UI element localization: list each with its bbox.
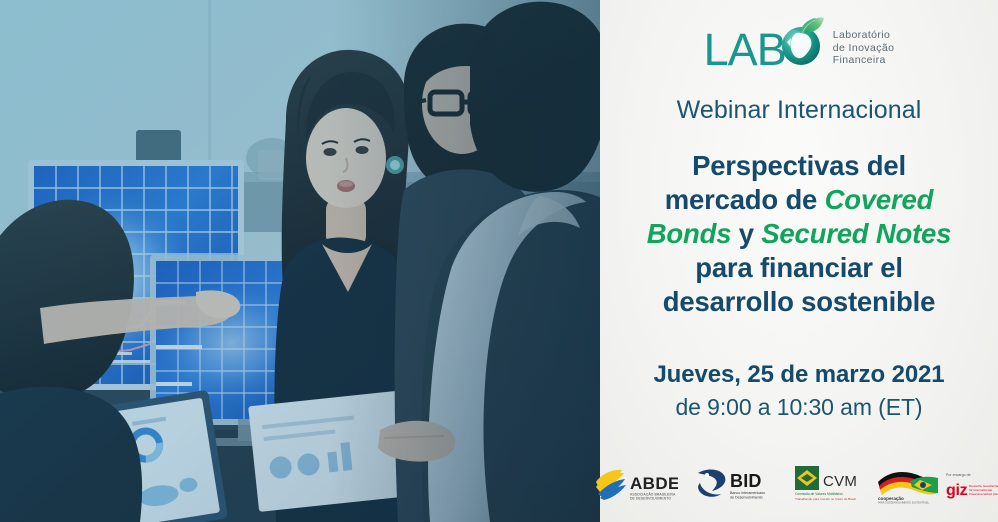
lab-logo: LAB [704, 14, 895, 80]
cooperacao-wordmark: cooperação [878, 496, 904, 501]
headline-line-4: para financiar el [619, 251, 979, 285]
headline-line-3: Bonds y Secured Notes [619, 217, 979, 251]
abde-sub-2: DE DESENVOLVIMENTO [630, 497, 671, 501]
headline-accent-bonds: Bonds [647, 218, 732, 249]
bid-logo-svg: BID Banco Interamericano de Desenvolvime… [692, 463, 780, 503]
headline-line-5: desarrollo sostenible [619, 285, 979, 319]
hero-photo [0, 0, 600, 522]
giz-prefix: Por encargo de [946, 473, 971, 477]
webinar-poster: LAB [0, 0, 998, 522]
giz-sub-3: Zusammenarbeit (GIZ) GmbH [969, 492, 998, 496]
sponsor-logo-abde: ABDE ASSOCIAÇÃO BRASILEIRA DE DESENVOLVI… [592, 463, 678, 503]
cvm-logo-svg: CVM Comissão de Valores Mobiliários Trab… [792, 461, 868, 505]
cvm-sub-2: Trabalhando para investir no futuro do B… [795, 497, 856, 501]
sponsor-logo-cooperacao-alema: cooperação PARA O DESENVOLVIMENTO SUSTEN… [876, 462, 940, 504]
event-date: Jueves, 25 de marzo 2021 [653, 361, 944, 389]
bid-sub-2: de Desenvolvimento [730, 496, 763, 500]
cvm-wordmark: CVM [823, 473, 857, 490]
headline-line-2: mercado de Covered [619, 183, 979, 217]
lab-tagline: Laboratório de Inovação Financeira [833, 29, 895, 66]
sponsor-logo-strip: ABDE ASSOCIAÇÃO BRASILEIRA DE DESENVOLVI… [600, 452, 998, 514]
lab-tagline-line1: Laboratório [833, 29, 895, 41]
info-panel: LAB [600, 0, 998, 522]
headline-line-1: Perspectivas del [619, 149, 979, 183]
globe-leaf-icon [778, 16, 826, 73]
eyebrow-text: Webinar Internacional [677, 96, 922, 125]
hero-photo-illustration [0, 0, 600, 522]
sponsor-logo-giz: Por encargo de giz Deutsche Gesellschaft… [944, 462, 998, 504]
headline-accent-secured-notes: Secured Notes [761, 218, 951, 249]
headline-accent-covered: Covered [825, 184, 934, 215]
lab-tagline-line3: Financeira [833, 54, 895, 66]
bid-wordmark: BID [730, 471, 762, 491]
lab-tagline-line2: de Inovação [833, 42, 895, 54]
abde-logo-svg: ABDE ASSOCIAÇÃO BRASILEIRA DE DESENVOLVI… [592, 463, 678, 503]
lab-wordmark: LAB [704, 27, 786, 72]
cooperacao-sub-1: PARA O DESENVOLVIMENTO SUSTENTÁVEL [878, 501, 930, 504]
bid-sub-1: Banco Interamericano [730, 491, 765, 495]
german-brazil-flags-icon-svg: cooperação PARA O DESENVOLVIMENTO SUSTEN… [876, 462, 940, 504]
abde-wordmark: ABDE [630, 474, 678, 493]
page-title: Perspectivas del mercado de Covered Bond… [619, 149, 979, 319]
giz-wordmark: giz [946, 482, 968, 499]
event-time: de 9:00 a 10:30 am (ET) [653, 394, 944, 421]
globe-leaf-icon-svg [778, 16, 826, 68]
event-datetime: Jueves, 25 de marzo 2021 de 9:00 a 10:30… [653, 361, 944, 421]
cvm-sub-1: Comissão de Valores Mobiliários [795, 492, 843, 496]
sponsor-logo-cvm: CVM Comissão de Valores Mobiliários Trab… [792, 461, 868, 505]
sponsor-logo-bid: BID Banco Interamericano de Desenvolvime… [692, 463, 780, 503]
giz-logo-svg: Por encargo de giz Deutsche Gesellschaft… [944, 462, 998, 504]
